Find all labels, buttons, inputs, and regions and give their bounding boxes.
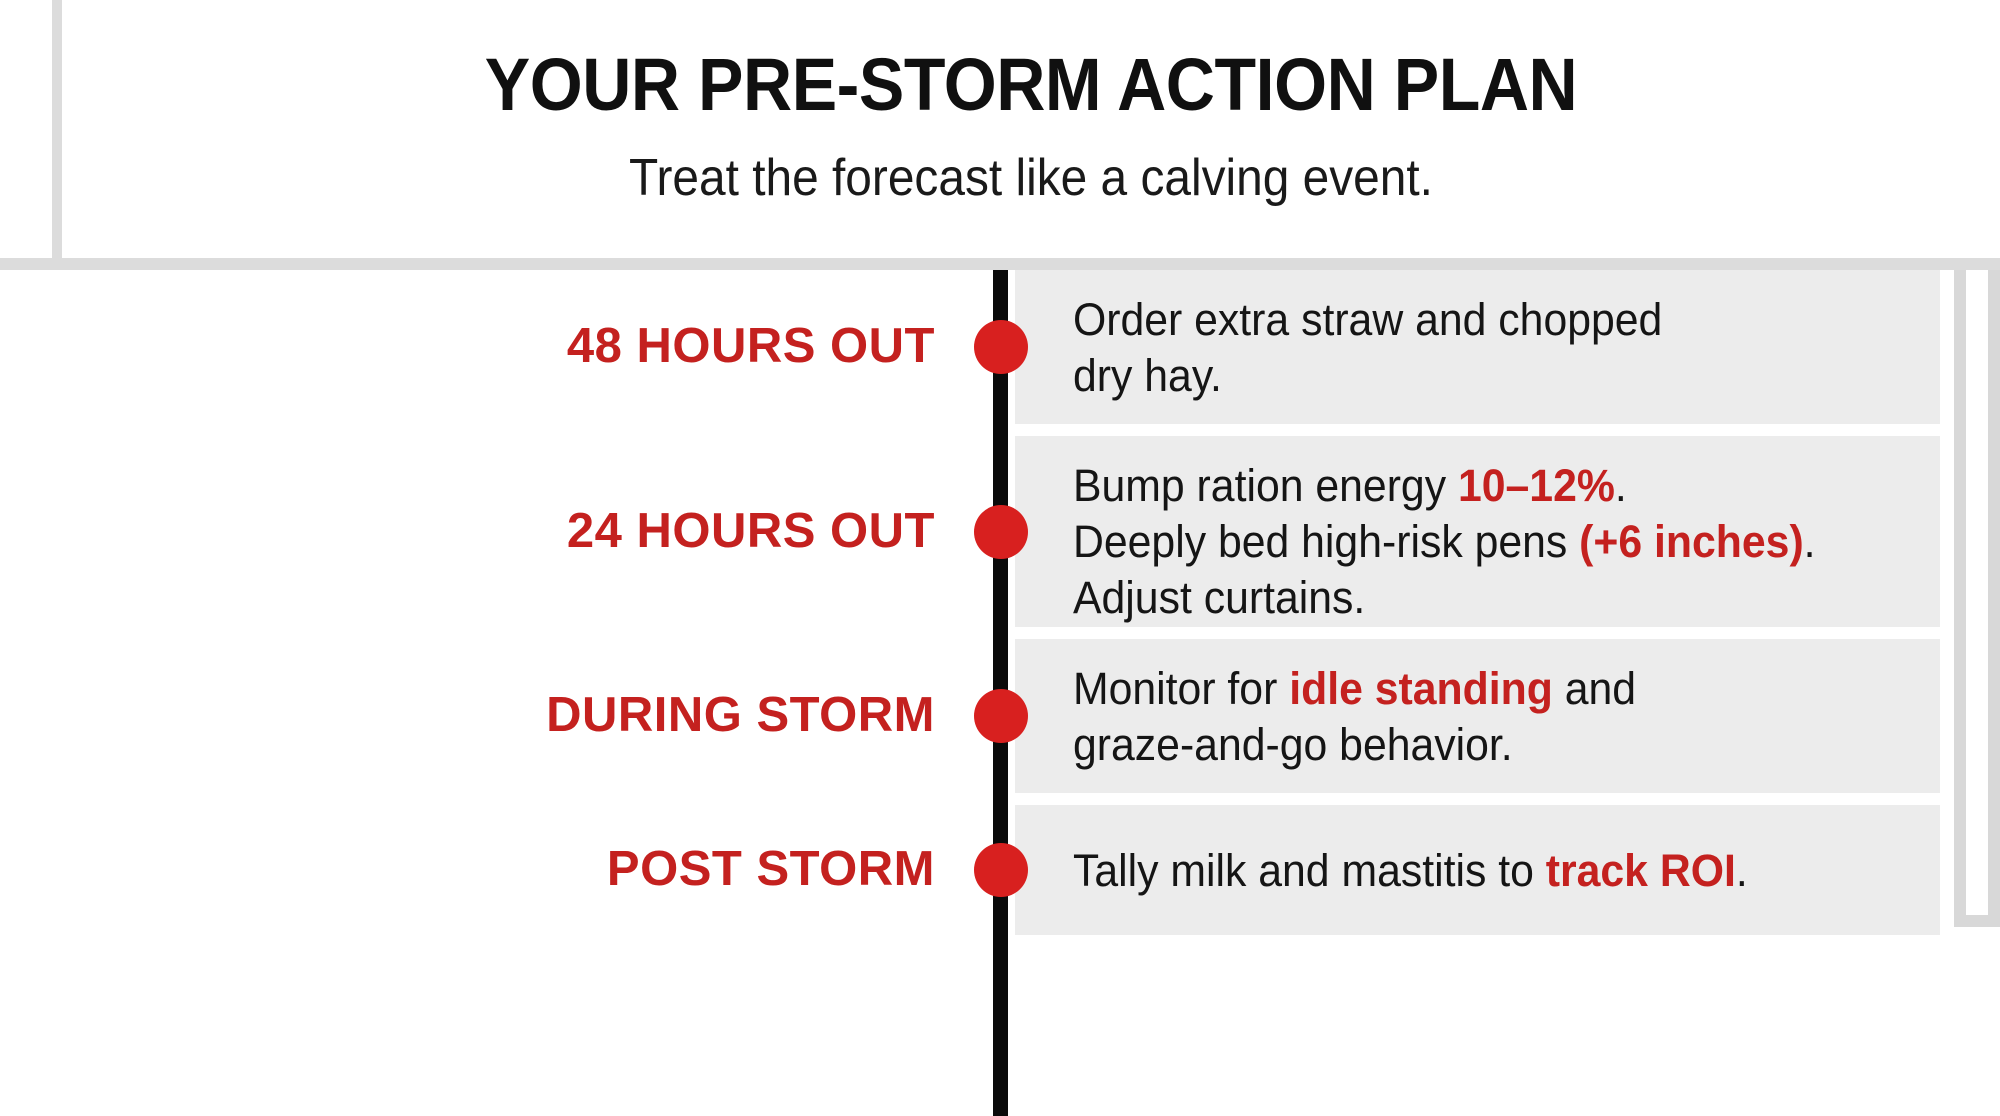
- timeline: 48 HOURS OUT24 HOURS OUTDURING STORMPOST…: [0, 270, 2000, 1116]
- body-text: .: [1804, 516, 1816, 567]
- timeline-card-line: Adjust curtains.: [1073, 570, 1868, 626]
- body-text: Deeply bed high-risk pens: [1073, 516, 1579, 567]
- body-text: .: [1736, 845, 1748, 896]
- emphasis-text: (+6 inches): [1579, 516, 1804, 567]
- timeline-card: Tally milk and mastitis to track ROI.: [1015, 805, 1940, 935]
- body-text: Order extra straw and chopped: [1073, 294, 1662, 345]
- body-text: Tally milk and mastitis to: [1073, 845, 1546, 896]
- body-text: graze-and-go behavior.: [1073, 719, 1513, 770]
- body-text: Monitor for: [1073, 663, 1289, 714]
- frame-left-rule: [52, 0, 62, 266]
- timeline-cards: Order extra straw and choppeddry hay.Bum…: [1015, 270, 1940, 935]
- slide-root: YOUR PRE-STORM ACTION PLAN Treat the for…: [0, 0, 2000, 1116]
- timeline-card-line: Order extra straw and chopped: [1073, 292, 1868, 348]
- timeline-dot-icon: [974, 320, 1028, 374]
- timeline-card: Order extra straw and choppeddry hay.: [1015, 270, 1940, 424]
- timeline-card: Bump ration energy 10–12%.Deeply bed hig…: [1015, 436, 1940, 627]
- timeline-card-text: Monitor for idle standing andgraze-and-g…: [1073, 661, 1868, 773]
- timeline-card-text: Tally milk and mastitis to track ROI.: [1073, 843, 1868, 899]
- body-text: Bump ration energy: [1073, 460, 1458, 511]
- timeline-card-line: dry hay.: [1073, 348, 1868, 404]
- page-title: YOUR PRE-STORM ACTION PLAN: [140, 48, 1923, 122]
- header: YOUR PRE-STORM ACTION PLAN Treat the for…: [62, 0, 2000, 258]
- timeline-labels: 48 HOURS OUT24 HOURS OUTDURING STORMPOST…: [0, 270, 935, 1116]
- emphasis-text: idle standing: [1289, 663, 1553, 714]
- emphasis-text: track ROI: [1546, 845, 1736, 896]
- timeline-dot-icon: [974, 689, 1028, 743]
- body-text: and: [1553, 663, 1636, 714]
- frame-top-divider: [0, 258, 2000, 270]
- timeline-card: Monitor for idle standing andgraze-and-g…: [1015, 639, 1940, 793]
- emphasis-text: 10–12%: [1458, 460, 1615, 511]
- body-text: dry hay.: [1073, 350, 1222, 401]
- timeline-label: 48 HOURS OUT: [567, 322, 935, 371]
- timeline-card-line: Deeply bed high-risk pens (+6 inches).: [1073, 514, 1868, 570]
- timeline-dot-icon: [974, 843, 1028, 897]
- body-text: Adjust curtains.: [1073, 572, 1365, 623]
- timeline-card-text: Order extra straw and choppeddry hay.: [1073, 292, 1868, 404]
- timeline-label: 24 HOURS OUT: [567, 507, 935, 556]
- body-text: .: [1615, 460, 1627, 511]
- timeline-dot-icon: [974, 505, 1028, 559]
- timeline-label: POST STORM: [607, 845, 935, 894]
- timeline-card-line: Tally milk and mastitis to track ROI.: [1073, 843, 1868, 899]
- page-subtitle: Treat the forecast like a calving event.: [140, 152, 1923, 204]
- timeline-card-line: Monitor for idle standing and: [1073, 661, 1868, 717]
- timeline-card-text: Bump ration energy 10–12%.Deeply bed hig…: [1073, 458, 1868, 625]
- timeline-card-line: graze-and-go behavior.: [1073, 717, 1868, 773]
- timeline-label: DURING STORM: [546, 691, 935, 740]
- timeline-card-line: Bump ration energy 10–12%.: [1073, 458, 1868, 514]
